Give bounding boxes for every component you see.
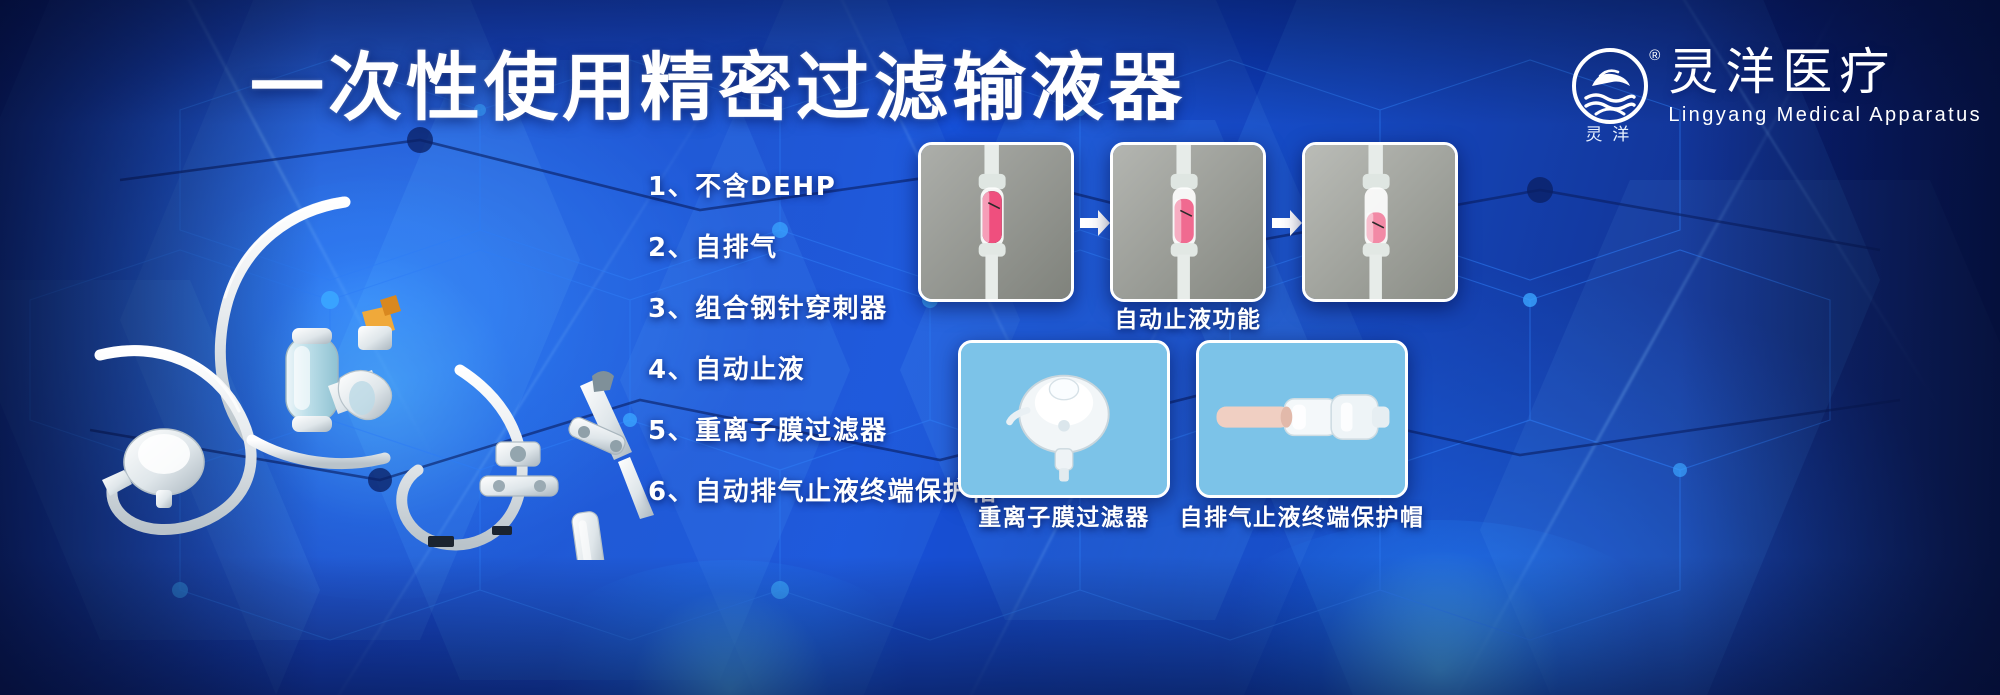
page-title: 一次性使用精密过滤输液器 bbox=[250, 46, 1186, 130]
logo-mark-caption: 灵洋 bbox=[1572, 120, 1652, 145]
feature-item-4: 4、自动止液 bbox=[648, 355, 998, 386]
heavy-ion-membrane-filter bbox=[958, 340, 1170, 498]
lingyang-wave-seal-logo-icon: ® 灵洋 bbox=[1570, 46, 1650, 126]
auto-stop-frame-3 bbox=[1302, 142, 1458, 302]
arrow-right-icon-1 bbox=[1078, 208, 1112, 238]
registered-trademark-icon: ® bbox=[1649, 48, 1660, 63]
auto-stop-frame-2 bbox=[1110, 142, 1266, 302]
infusion-set-photo bbox=[40, 140, 660, 560]
heavy-ion-membrane-filter-caption: 重离子膜过滤器 bbox=[978, 504, 1150, 532]
brand-name-en: Lingyang Medical Apparatus bbox=[1668, 102, 1982, 128]
self-venting-terminal-cap bbox=[1196, 340, 1408, 498]
feature-item-5: 5、重离子膜过滤器 bbox=[648, 416, 998, 447]
brand-logo[interactable]: ® 灵洋 灵洋医疗 Lingyang Medical Apparatus bbox=[1570, 44, 1982, 128]
self-venting-terminal-cap-caption: 自排气止液终端保护帽 bbox=[1180, 504, 1425, 532]
feature-item-6: 6、自动排气止液终端保护帽 bbox=[648, 477, 998, 508]
arrow-right-icon-2 bbox=[1270, 208, 1304, 238]
brand-name-cn: 灵洋医疗 bbox=[1668, 44, 1982, 100]
brand-name-block: 灵洋医疗 Lingyang Medical Apparatus bbox=[1668, 44, 1982, 128]
auto-stop-frame-1 bbox=[918, 142, 1074, 302]
banner-root: 一次性使用精密过滤输液器 ® 灵洋 灵洋医疗 Lingyang Medical … bbox=[0, 0, 2000, 695]
demo-row-caption: 自动止液功能 bbox=[1115, 306, 1262, 334]
